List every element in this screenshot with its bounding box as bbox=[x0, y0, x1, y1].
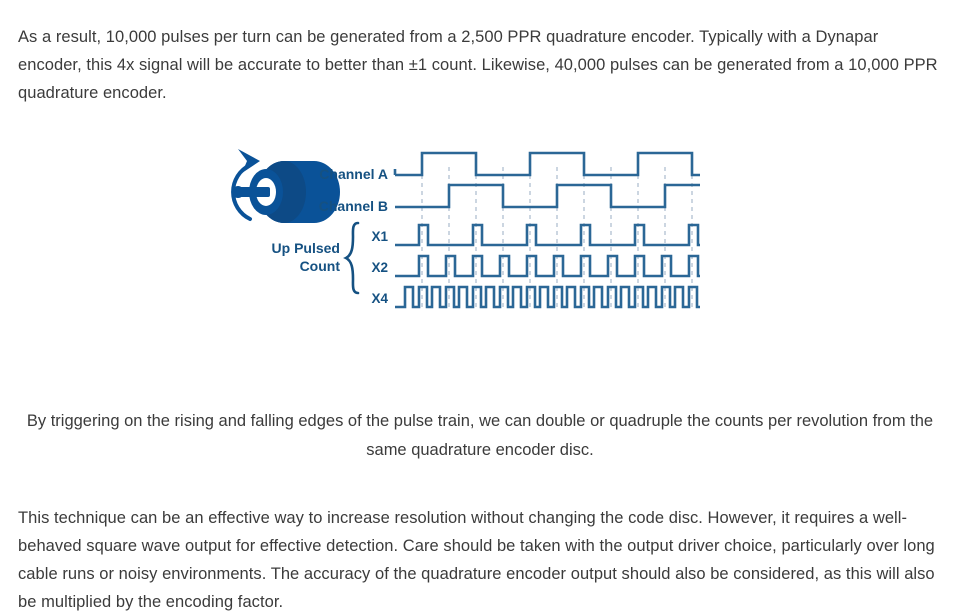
up-pulsed-count-brace bbox=[346, 223, 358, 293]
quadrature-encoder-figure: Channel A Channel B X1 X2 X4 Up Pulsed C… bbox=[222, 145, 712, 330]
article-page: As a result, 10,000 pulses per turn can … bbox=[0, 0, 960, 611]
x1-label: X1 bbox=[371, 229, 388, 244]
x1-pulse-train bbox=[395, 225, 700, 245]
intro-paragraph: As a result, 10,000 pulses per turn can … bbox=[18, 23, 938, 107]
figure-caption: By triggering on the rising and falling … bbox=[18, 407, 942, 465]
closing-paragraph: This technique can be an effective way t… bbox=[18, 504, 943, 616]
x2-pulse-train bbox=[395, 256, 700, 276]
channel-b-waveform bbox=[395, 185, 700, 207]
channel-a-label: Channel A bbox=[319, 166, 388, 182]
x2-label: X2 bbox=[371, 260, 388, 275]
channel-b-label: Channel B bbox=[319, 198, 388, 214]
up-pulsed-count-label-line1: Up Pulsed bbox=[272, 240, 340, 256]
channel-a-waveform bbox=[395, 153, 700, 175]
x4-pulse-train bbox=[395, 287, 700, 307]
x4-label: X4 bbox=[371, 291, 388, 306]
up-pulsed-count-label-line2: Count bbox=[300, 258, 341, 274]
